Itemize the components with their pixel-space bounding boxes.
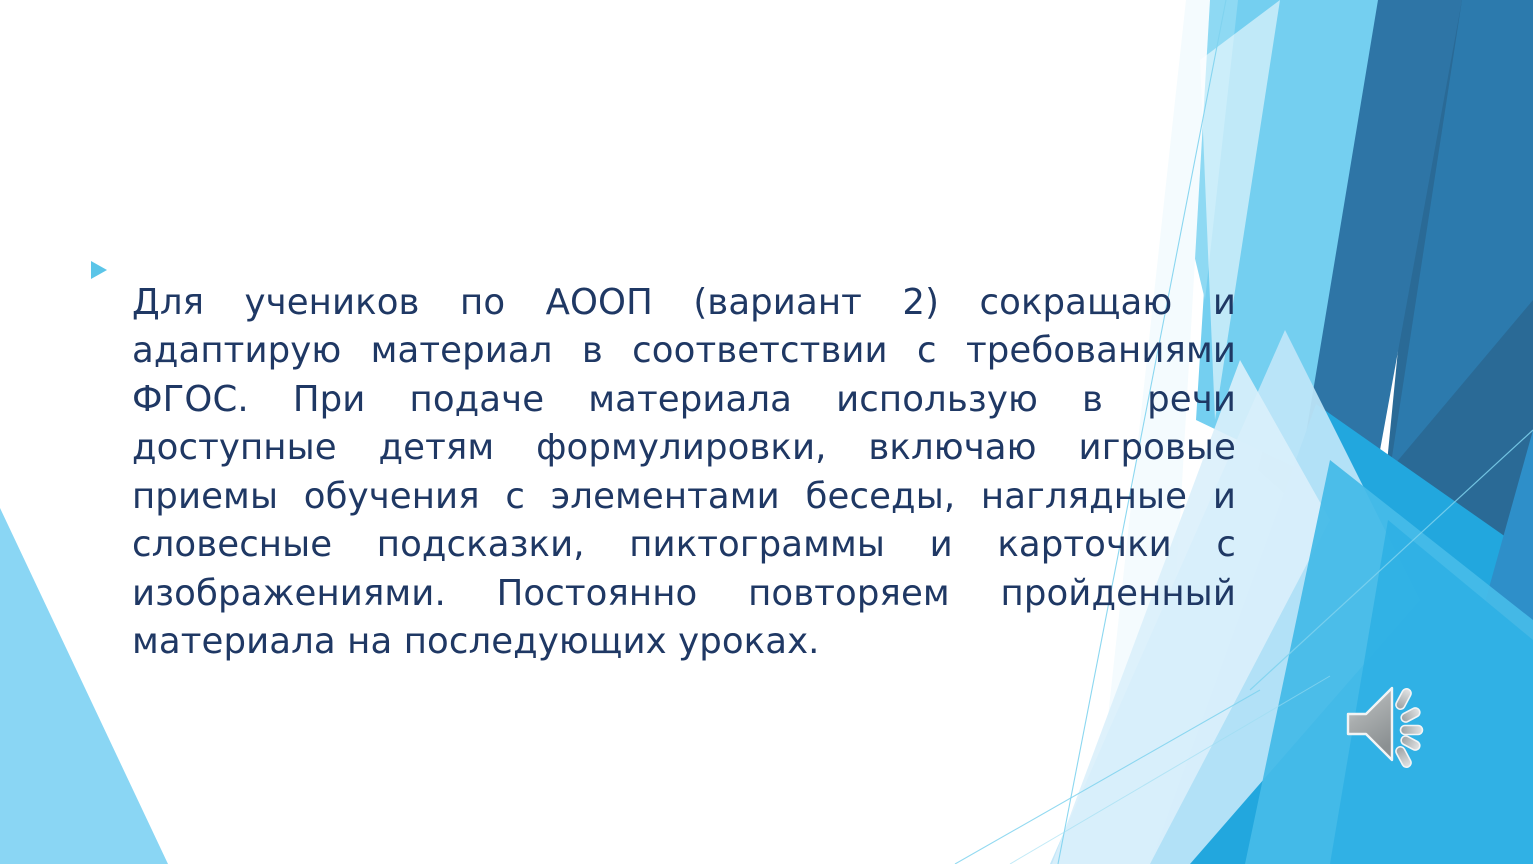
bullet-list-item: Для учеников по АООП (вариант 2) сокраща… [88, 243, 1236, 702]
speaker-audio-icon[interactable] [1336, 668, 1448, 780]
presentation-slide: Для учеников по АООП (вариант 2) сокраща… [0, 0, 1533, 864]
decor-shape-overlay-cyan [1245, 460, 1533, 864]
bullet-paragraph-text: Для учеников по АООП (вариант 2) сокраща… [132, 279, 1236, 667]
decor-shape-steel-band-2 [1390, 0, 1533, 470]
decor-hairline-long [1250, 430, 1533, 690]
decor-hairline-sweep [955, 690, 1260, 864]
triangle-bullet-icon [88, 243, 132, 281]
decor-shape-steel-band [1258, 0, 1462, 560]
decor-hairline-sweep-2 [1010, 676, 1330, 864]
body-text-placeholder: Для учеников по АООП (вариант 2) сокраща… [88, 243, 1236, 702]
decor-shape-bright-fan-2 [1412, 430, 1533, 864]
